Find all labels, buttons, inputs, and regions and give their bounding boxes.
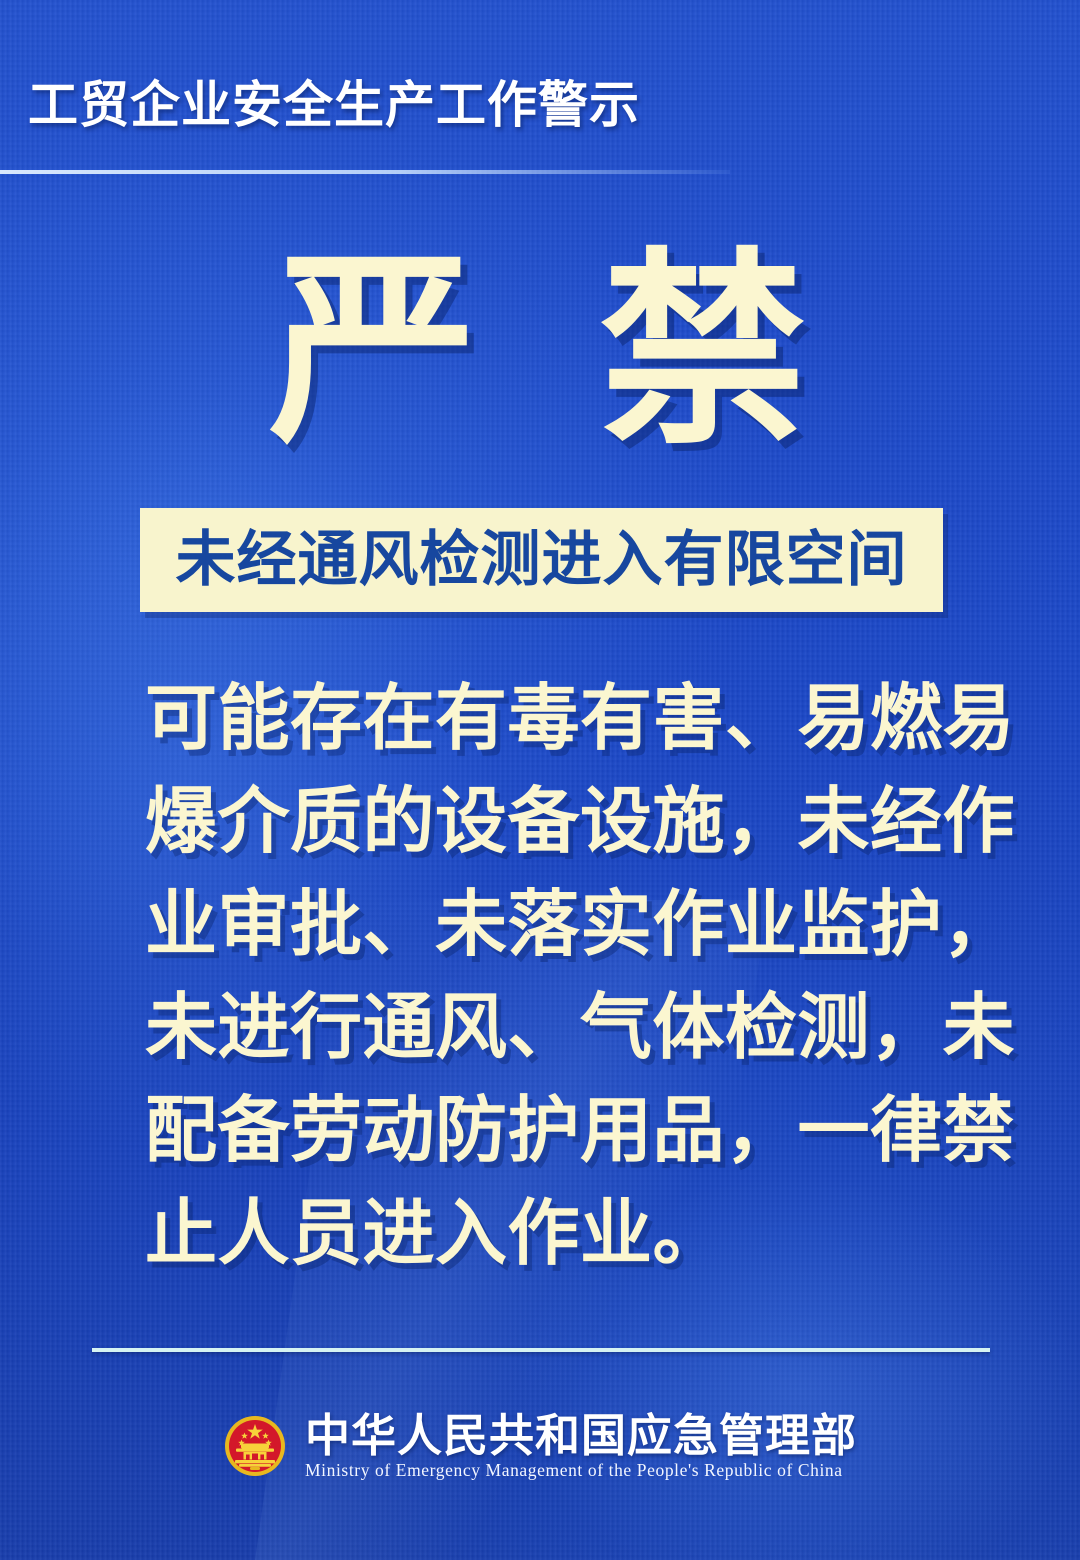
body-line: 业审批、未落实作业监护， [145, 874, 965, 977]
page-title: 工贸企业安全生产工作警示 [28, 80, 640, 130]
body-paragraph: 可能存在有毒有害、易燃易 爆介质的设备设施，未经作 业审批、未落实作业监护， 未… [145, 668, 965, 1286]
footer-organization: 中华人民共和国应急管理部 Ministry of Emergency Manag… [305, 1412, 857, 1481]
body-line: 爆介质的设备设施，未经作 [145, 771, 965, 874]
footer-organization-cn: 中华人民共和国应急管理部 [305, 1412, 857, 1459]
footer-divider [92, 1348, 990, 1352]
body-line: 配备劳动防护用品，一律禁 [145, 1080, 965, 1183]
national-emblem-icon [223, 1414, 287, 1478]
header-divider [0, 170, 730, 174]
body-line: 未进行通风、气体检测，未 [145, 977, 965, 1080]
body-line: 止人员进入作业。 [145, 1183, 965, 1286]
headline-prohibition: 严禁 [0, 248, 1080, 456]
safety-warning-poster: 工贸企业安全生产工作警示 严禁 未经通风检测进入有限空间 可能存在有毒有害、易燃… [0, 0, 1080, 1560]
subtitle-banner: 未经通风检测进入有限空间 [140, 508, 943, 612]
subtitle-text: 未经通风检测进入有限空间 [176, 530, 908, 590]
headline-char-yan: 严 [269, 236, 481, 468]
headline-char-jin: 禁 [599, 236, 811, 468]
body-line: 可能存在有毒有害、易燃易 [145, 668, 965, 771]
footer: 中华人民共和国应急管理部 Ministry of Emergency Manag… [0, 1412, 1080, 1481]
footer-organization-en: Ministry of Emergency Management of the … [305, 1461, 843, 1480]
